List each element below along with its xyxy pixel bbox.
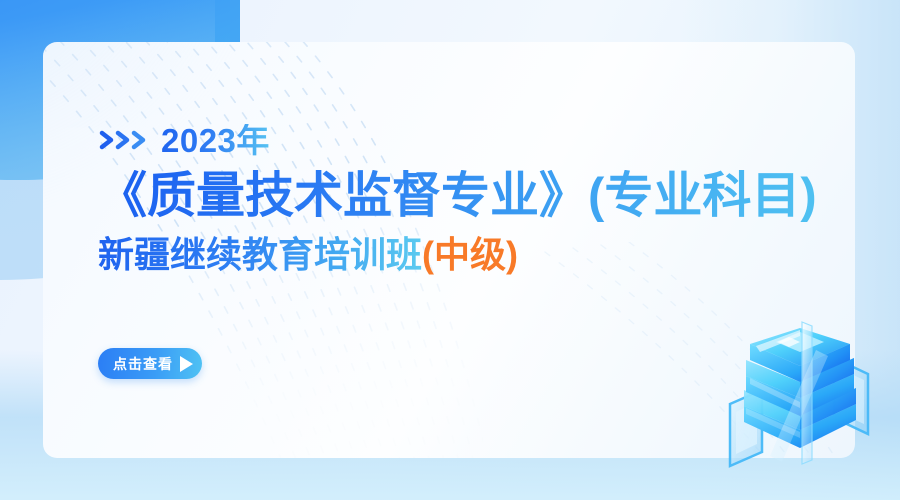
3d-glass-stacked-books-cube-icon	[716, 312, 886, 482]
triple-chevron-right-icon	[98, 129, 150, 151]
view-details-button[interactable]: 点击查看	[98, 348, 202, 379]
subtitle-level-badge: (中级)	[422, 234, 518, 275]
page-title: 《质量技术监督专业》(专业科目)	[98, 170, 858, 224]
page-subtitle: 新疆继续教育培训班 (中级)	[98, 234, 858, 275]
headline-block: 2023年 《质量技术监督专业》(专业科目) 新疆继续教育培训班 (中级)	[98, 120, 858, 275]
year-label: 2023年	[161, 124, 270, 157]
view-details-button-label: 点击查看	[113, 357, 173, 371]
eyebrow-row: 2023年	[98, 120, 858, 160]
promo-banner: 2023年 《质量技术监督专业》(专业科目) 新疆继续教育培训班 (中级) 点击…	[0, 0, 900, 500]
subtitle-main: 新疆继续教育培训班	[98, 234, 422, 275]
play-triangle-icon	[180, 356, 193, 372]
